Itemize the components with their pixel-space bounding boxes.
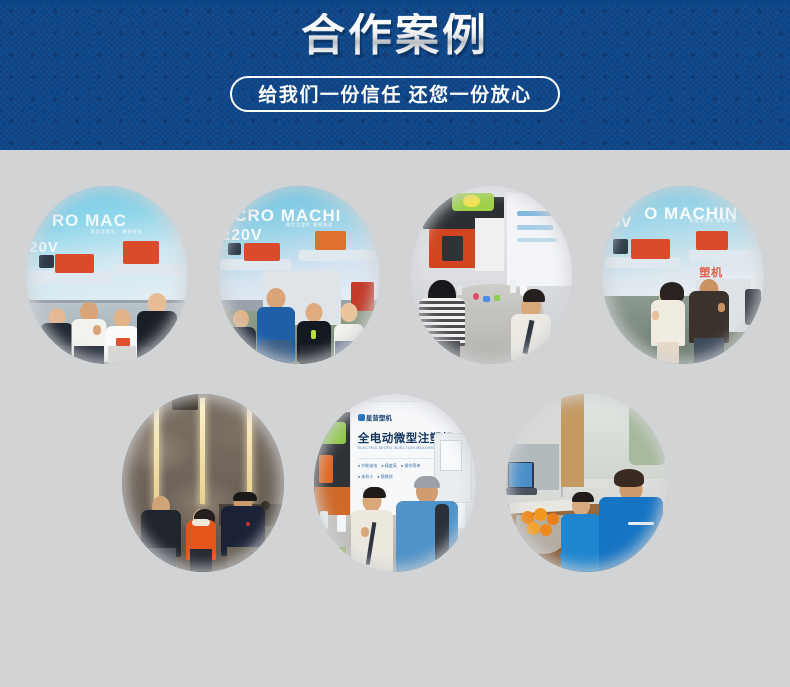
case-gallery: RO MAC 20V 微型注塑机 · 精密制造 (0, 150, 790, 687)
photo-6-scene: 星普塑机 全电动微型注塑机 ELECTRIC MICRO INJECTION M… (314, 394, 476, 572)
photo-1-scene: RO MAC 20V 微型注塑机 · 精密制造 (26, 186, 188, 364)
header-banner: 合作案例 给我们一份信任 还您一份放心 (0, 0, 790, 150)
case-photo-4[interactable]: O MACHIN 0V 微型注塑机 精密制造 塑机 (602, 186, 764, 364)
case-photo-3[interactable] (410, 186, 572, 364)
page-root: 合作案例 给我们一份信任 还您一份放心 RO MAC 20V 微型注塑机 · 精… (0, 0, 790, 687)
case-photo-7[interactable] (506, 394, 668, 572)
photo-6-booth-logo: 星普塑机 (366, 412, 392, 422)
photo-row-1: RO MAC 20V 微型注塑机 · 精密制造 (0, 150, 790, 364)
photo-1-banner-subtext: 微型注塑机 · 精密制造 (91, 229, 143, 235)
case-photo-1[interactable]: RO MAC 20V 微型注塑机 · 精密制造 (26, 186, 188, 364)
photo-7-scene (506, 394, 668, 572)
banner-subtitle-pill: 给我们一份信任 还您一份放心 (230, 76, 559, 112)
case-photo-2[interactable]: CRO MACHI 220V 微型注塑机 精密制造 (218, 186, 380, 364)
page-title: 合作案例 (301, 13, 489, 60)
photo-2-banner-subtext: 微型注塑机 精密制造 (286, 222, 333, 228)
photo-5-scene (122, 394, 284, 572)
case-photo-6[interactable]: 星普塑机 全电动微型注塑机 ELECTRIC MICRO INJECTION M… (314, 394, 476, 572)
photo-4-scene: O MACHIN 0V 微型注塑机 精密制造 塑机 (602, 186, 764, 364)
photo-row-2: 星普塑机 全电动微型注塑机 ELECTRIC MICRO INJECTION M… (0, 364, 790, 572)
photo-3-scene (410, 186, 572, 364)
photo-2-scene: CRO MACHI 220V 微型注塑机 精密制造 (218, 186, 380, 364)
photo-4-banner-subtext: 微型注塑机 精密制造 (689, 218, 736, 224)
case-photo-5[interactable] (122, 394, 284, 572)
photo-4-banner-text-volt: 0V (612, 214, 632, 231)
